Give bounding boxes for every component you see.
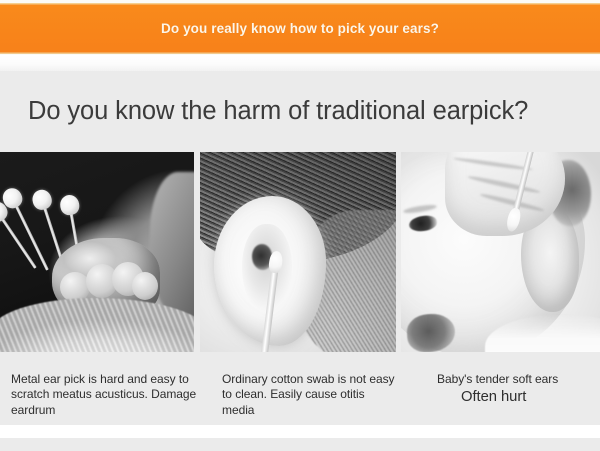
baby-ear-photo xyxy=(401,152,600,352)
photo-panel-cotton-swab xyxy=(200,152,396,352)
caption-row: Metal ear pick is hard and easy to scrat… xyxy=(0,352,600,425)
headline-band: Do you know the harm of traditional earp… xyxy=(0,71,600,152)
towel-shape xyxy=(0,298,194,352)
bottom-grey-band xyxy=(0,438,600,451)
earpick-swab-1 xyxy=(0,216,37,269)
finger-crease xyxy=(453,156,533,171)
promo-banner: Do you really know how to pick your ears… xyxy=(0,3,600,54)
caption-baby-ear-line2: Often hurt xyxy=(437,387,597,407)
finger-crease xyxy=(467,174,540,194)
metal-earpick-photo xyxy=(0,152,194,352)
caption-baby-ear: Baby's tender soft ears Often hurt xyxy=(437,372,597,407)
banner-container: Do you really know how to pick your ears… xyxy=(0,0,600,57)
bottom-white-band xyxy=(0,425,600,438)
product-infographic-page: Do you really know how to pick your ears… xyxy=(0,0,600,451)
photo-panel-metal-earpick xyxy=(0,152,194,352)
knuckle xyxy=(132,272,158,300)
photo-panel-baby-ear xyxy=(401,152,600,352)
earpick-cotton-tip xyxy=(59,194,81,217)
earpick-stick xyxy=(0,216,37,269)
photo-row xyxy=(0,152,600,352)
caption-cotton-swab: Ordinary cotton swab is not easy to clea… xyxy=(222,372,398,418)
page-title: Do you know the harm of traditional earp… xyxy=(28,97,528,126)
cotton-swab-ear-photo xyxy=(200,152,396,352)
banner-headline-text: Do you really know how to pick your ears… xyxy=(161,21,439,36)
banner-spacer xyxy=(0,55,600,71)
caption-metal-earpick: Metal ear pick is hard and easy to scrat… xyxy=(11,372,197,418)
earpick-cotton-tip xyxy=(30,187,54,212)
caption-baby-ear-line1: Baby's tender soft ears xyxy=(437,372,558,386)
